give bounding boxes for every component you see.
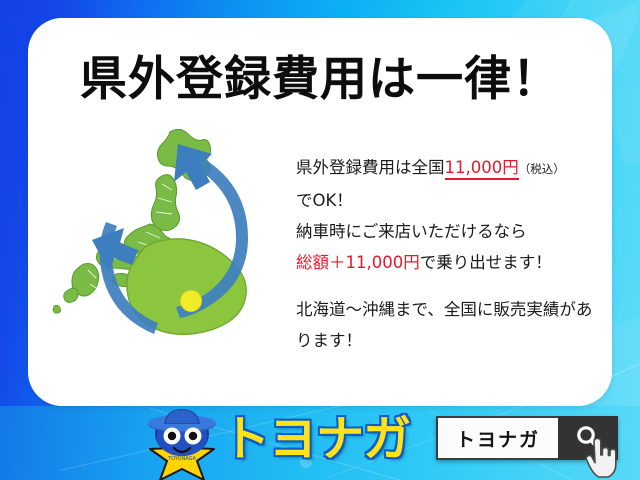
body-line-4: 総額＋11,000円で乗り出せます！ (296, 247, 606, 278)
body-line-1-prefix: 県外登録費用は全国 (296, 158, 445, 177)
search-widget[interactable]: トヨナガ (436, 416, 618, 460)
pointing-hand-cursor (582, 438, 620, 480)
body-line-1: 県外登録費用は全国11,000円（税込） (296, 152, 606, 185)
japan-map-illustration (50, 118, 290, 396)
svg-text:TOYONAGA: TOYONAGA (167, 456, 196, 462)
price-inline: 11,000円 (445, 158, 519, 180)
location-marker-dot (181, 291, 202, 312)
total-price-inline: 総額＋11,000円 (296, 253, 420, 272)
body-line-4-suffix: で乗り出せます！ (420, 253, 552, 272)
search-input[interactable]: トヨナガ (436, 416, 558, 460)
paragraph-gap (296, 278, 606, 294)
page-title: 県外登録費用は一律！ (28, 40, 612, 109)
content-card: 県外登録費用は一律！ (28, 18, 612, 406)
body-text: 県外登録費用は全国11,000円（税込） でOK！ 納車時にご来店いただけるなら… (296, 152, 606, 356)
toyonaga-star-mascot: TOYONAGA (136, 408, 228, 480)
body-line-2: でOK！ (296, 185, 606, 216)
body-line-3: 納車時にご来店いただけるなら (296, 216, 606, 247)
search-button[interactable] (558, 416, 618, 460)
toyonaga-logo-text: トヨナガ (222, 408, 410, 470)
body-line-5: 北海道〜沖縄まで、全国に販売実績があります！ (296, 294, 606, 356)
tax-note: （税込） (519, 162, 565, 176)
